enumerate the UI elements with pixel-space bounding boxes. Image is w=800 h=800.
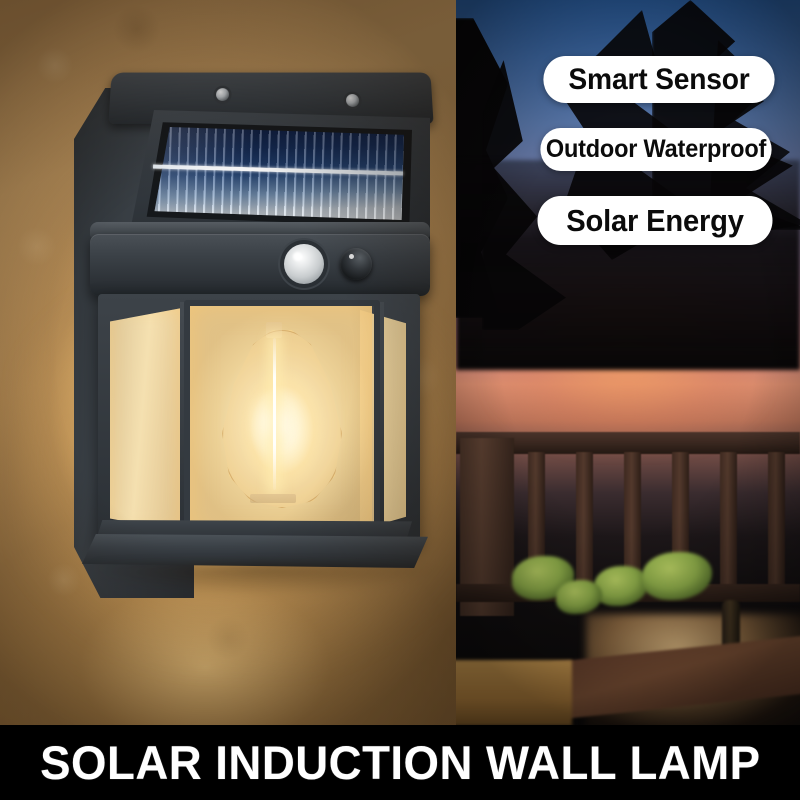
ambient-light-sensor-icon — [340, 248, 372, 280]
product-image-screenshot: Smart Sensor Outdoor Waterproof Solar En… — [0, 0, 800, 800]
right-lifestyle-photo — [456, 0, 800, 725]
deck-baluster — [720, 452, 737, 586]
feature-badge-solar-energy[interactable]: Solar Energy — [538, 196, 773, 245]
product-title: SOLAR INDUCTION WALL LAMP — [40, 735, 760, 790]
lamp-base-shadow — [92, 564, 432, 594]
deck-baluster — [576, 452, 593, 586]
roof-screw-right-icon — [346, 94, 359, 107]
feature-badge-label: Outdoor Waterproof — [546, 135, 766, 164]
plant-foliage — [556, 580, 602, 614]
feature-badge-label: Solar Energy — [566, 203, 744, 239]
roof-screw-left-icon — [216, 88, 229, 101]
bottom-title-banner: SOLAR INDUCTION WALL LAMP — [0, 725, 800, 800]
table-cloth — [456, 660, 572, 725]
solar-wall-lamp-fixture — [72, 72, 432, 617]
deck-baluster — [768, 452, 785, 586]
feature-badge-label: Smart Sensor — [568, 63, 749, 97]
lamp-base-plate — [82, 534, 428, 568]
sensor-bar — [90, 234, 430, 296]
feature-badge-outdoor-waterproof[interactable]: Outdoor Waterproof — [540, 128, 771, 171]
lantern-front-frame — [184, 300, 380, 540]
left-product-photo — [0, 0, 456, 725]
lantern-side-glass-left — [110, 308, 182, 532]
feature-badge-smart-sensor[interactable]: Smart Sensor — [543, 56, 774, 103]
pir-motion-sensor-icon — [284, 244, 324, 284]
solar-panel — [152, 125, 404, 224]
dark-canopy-mass — [456, 160, 800, 370]
lantern-glass-housing — [98, 294, 420, 546]
